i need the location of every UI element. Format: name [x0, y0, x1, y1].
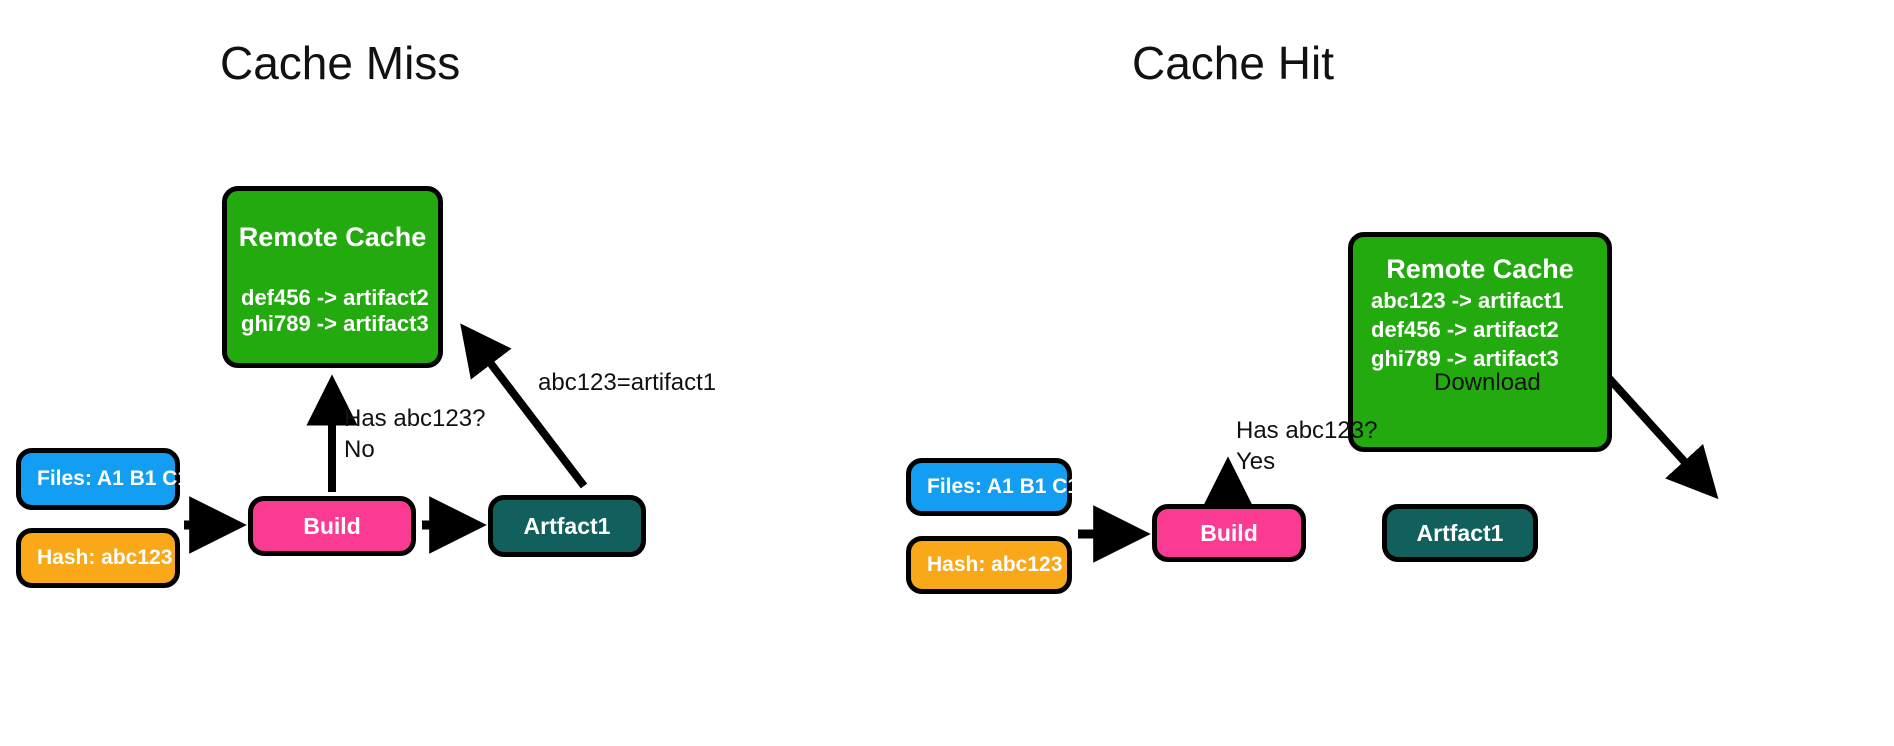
- remote-cache-entries-hit: abc123 -> artifact1 def456 -> artifact2 …: [1353, 287, 1564, 373]
- edge-label-download-hit: Download: [1434, 368, 1541, 399]
- build-node-label-hit: Build: [1200, 520, 1258, 547]
- files-node-label-hit: Files: A1 B1 C1: [927, 475, 1079, 499]
- hash-node-label-miss: Hash: abc123: [37, 546, 172, 570]
- artifact-node-label-hit: Artfact1: [1417, 520, 1504, 547]
- cache-entry: ghi789 -> artifact3: [241, 311, 429, 336]
- files-node-miss[interactable]: Files: A1 B1 C1: [16, 448, 180, 510]
- edge-label-lookup-hit: Has abc123? Yes: [1236, 416, 1377, 477]
- files-node-label-miss: Files: A1 B1 C1: [37, 467, 189, 491]
- files-node-hit[interactable]: Files: A1 B1 C1: [906, 458, 1072, 516]
- artifact-node-hit[interactable]: Artfact1: [1382, 504, 1538, 562]
- artifact-node-miss[interactable]: Artfact1: [488, 495, 646, 557]
- remote-cache-title-miss: Remote Cache: [239, 223, 427, 251]
- panel-title-cache-hit: Cache Hit: [1132, 36, 1334, 90]
- remote-cache-entries-miss: def456 -> artifact2 ghi789 -> artifact3: [227, 285, 429, 336]
- cache-entry: def456 -> artifact2: [241, 285, 429, 310]
- build-node-hit[interactable]: Build: [1152, 504, 1306, 562]
- build-node-label-miss: Build: [303, 513, 361, 540]
- cache-entry: def456 -> artifact2: [1371, 316, 1564, 345]
- hash-node-label-hit: Hash: abc123: [927, 553, 1062, 577]
- remote-cache-title-hit: Remote Cache: [1386, 255, 1574, 283]
- hash-node-miss[interactable]: Hash: abc123: [16, 528, 180, 588]
- cache-entry: abc123 -> artifact1: [1371, 287, 1564, 316]
- edge-label-upload-miss: abc123=artifact1: [538, 368, 716, 399]
- remote-cache-node-hit[interactable]: Remote Cache abc123 -> artifact1 def456 …: [1348, 232, 1612, 452]
- build-node-miss[interactable]: Build: [248, 496, 416, 556]
- diagram-canvas: Cache Miss Remote Cache def456 -> artifa…: [0, 0, 1894, 746]
- hash-node-hit[interactable]: Hash: abc123: [906, 536, 1072, 594]
- edge-label-lookup-miss: Has abc123? No: [344, 404, 485, 465]
- artifact-node-label-miss: Artfact1: [524, 513, 611, 540]
- panel-title-cache-miss: Cache Miss: [220, 36, 460, 90]
- remote-cache-node-miss[interactable]: Remote Cache def456 -> artifact2 ghi789 …: [222, 186, 443, 368]
